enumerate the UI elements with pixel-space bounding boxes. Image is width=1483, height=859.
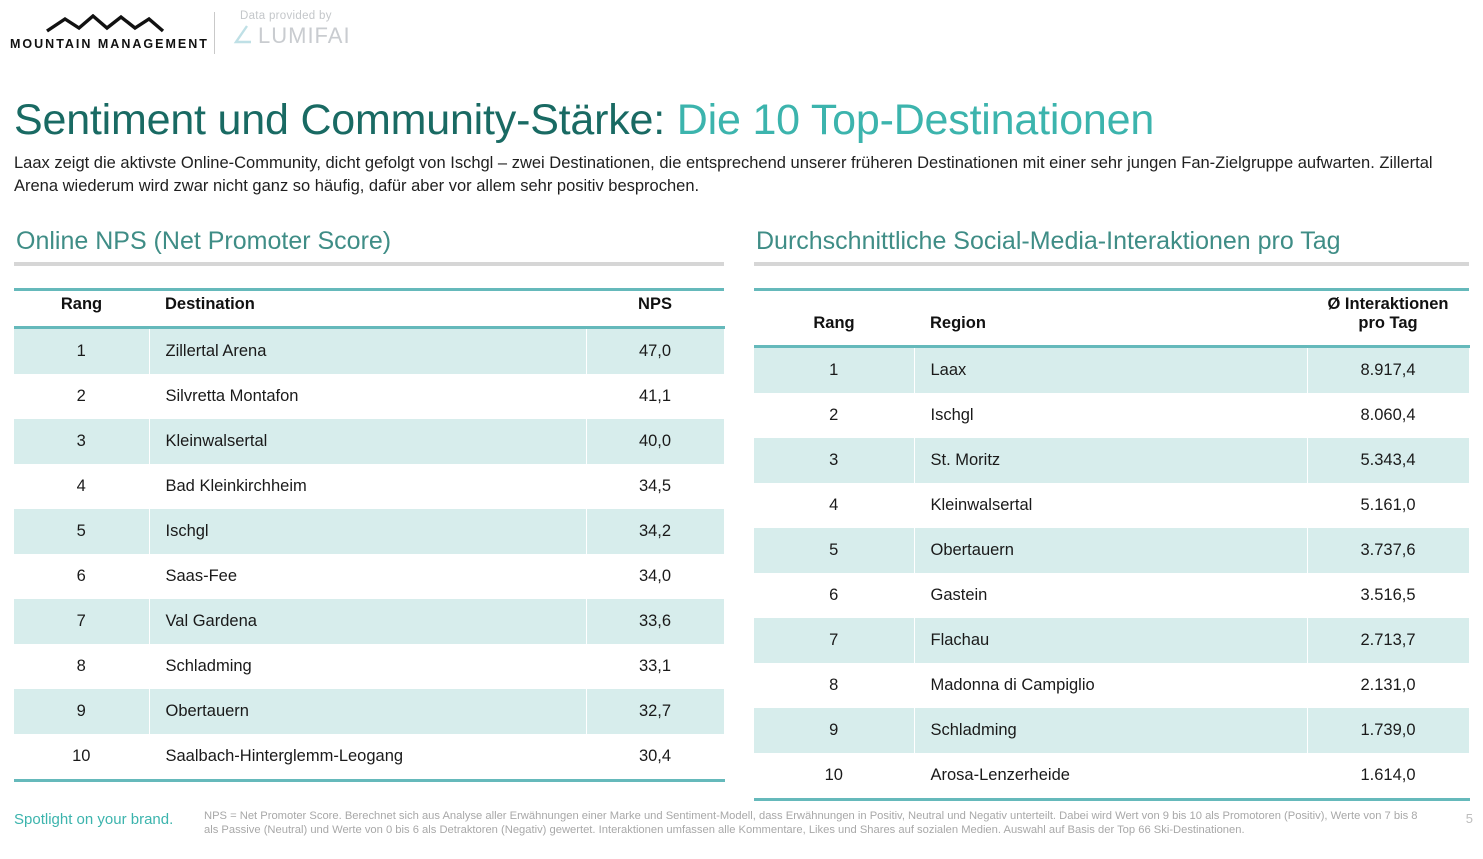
table-row: 1 Zillertal Arena 47,0 [14, 328, 724, 375]
cell-value: 5.343,4 [1307, 438, 1469, 483]
table-row: 7 Flachau 2.713,7 [754, 618, 1469, 663]
page-title-main: Sentiment und Community-Stärke: [14, 96, 665, 144]
cell-rank: 7 [754, 618, 914, 663]
table-row: 1 Laax 8.917,4 [754, 347, 1469, 394]
cell-rank: 2 [754, 393, 914, 438]
cell-value: 41,1 [586, 374, 724, 419]
cell-name: Obertauern [914, 528, 1307, 573]
table-header-row: Rang Destination NPS [14, 290, 724, 328]
table-row: 10 Saalbach-Hinterglemm-Leogang 30,4 [14, 734, 724, 781]
cell-rank: 6 [14, 554, 149, 599]
cell-rank: 10 [14, 734, 149, 781]
page-subtitle: Laax zeigt die aktivste Online-Community… [14, 152, 1469, 198]
cell-value: 2.131,0 [1307, 663, 1469, 708]
cell-name: Flachau [914, 618, 1307, 663]
footnote-text: NPS = Net Promoter Score. Berechnet sich… [204, 809, 1432, 837]
table-row: 2 Silvretta Montafon 41,1 [14, 374, 724, 419]
cell-name: Ischgl [149, 509, 586, 554]
cell-name: Saas-Fee [149, 554, 586, 599]
section-rule-left [14, 262, 724, 266]
lumifai-mark-icon [232, 23, 254, 49]
table-row: 8 Schladming 33,1 [14, 644, 724, 689]
cell-rank: 9 [14, 689, 149, 734]
cell-name: Obertauern [149, 689, 586, 734]
column-header-rank: Rang [14, 290, 149, 328]
cell-rank: 1 [754, 347, 914, 394]
table-row: 2 Ischgl 8.060,4 [754, 393, 1469, 438]
cell-value: 1.739,0 [1307, 708, 1469, 753]
cell-rank: 8 [754, 663, 914, 708]
cell-rank: 10 [754, 753, 914, 800]
mountain-management-logo: MOUNTAIN MANAGEMENT [10, 14, 200, 51]
cell-name: Schladming [149, 644, 586, 689]
table-row: 7 Val Gardena 33,6 [14, 599, 724, 644]
cell-rank: 7 [14, 599, 149, 644]
table-row: 5 Obertauern 3.737,6 [754, 528, 1469, 573]
column-header-interactions: Ø Interaktionen pro Tag [1307, 290, 1469, 347]
table-online-nps: Rang Destination NPS 1 Zillertal Arena 4… [14, 288, 725, 782]
cell-name: Saalbach-Hinterglemm-Leogang [149, 734, 586, 781]
cell-rank: 2 [14, 374, 149, 419]
table-row: 6 Saas-Fee 34,0 [14, 554, 724, 599]
table-row: 6 Gastein 3.516,5 [754, 573, 1469, 618]
cell-name: Madonna di Campiglio [914, 663, 1307, 708]
page-footer: Spotlight on your brand. NPS = Net Promo… [0, 797, 1483, 859]
page-title-accent: Die 10 Top-Destinationen [677, 96, 1154, 144]
cell-name: Zillertal Arena [149, 328, 586, 375]
cell-value: 2.713,7 [1307, 618, 1469, 663]
cell-value: 8.060,4 [1307, 393, 1469, 438]
cell-value: 3.737,6 [1307, 528, 1469, 573]
table-social-interactions: Rang Region Ø Interaktionen pro Tag 1 La… [754, 288, 1470, 801]
table-row: 3 St. Moritz 5.343,4 [754, 438, 1469, 483]
table-row: 5 Ischgl 34,2 [14, 509, 724, 554]
cell-rank: 5 [754, 528, 914, 573]
cell-value: 33,1 [586, 644, 724, 689]
cell-value: 34,5 [586, 464, 724, 509]
table-row: 10 Arosa-Lenzerheide 1.614,0 [754, 753, 1469, 800]
page-number: 5 [1466, 811, 1473, 826]
cell-value: 34,2 [586, 509, 724, 554]
cell-value: 30,4 [586, 734, 724, 781]
cell-name: Ischgl [914, 393, 1307, 438]
table-row: 9 Obertauern 32,7 [14, 689, 724, 734]
section-title-right: Durchschnittliche Social-Media-Interakti… [756, 226, 1469, 256]
column-header-nps: NPS [586, 290, 724, 328]
column-header-rank: Rang [754, 290, 914, 347]
cell-rank: 5 [14, 509, 149, 554]
cell-name: Bad Kleinkirchheim [149, 464, 586, 509]
cell-name: Schladming [914, 708, 1307, 753]
cell-rank: 1 [14, 328, 149, 375]
cell-value: 40,0 [586, 419, 724, 464]
cell-rank: 4 [754, 483, 914, 528]
cell-value: 33,6 [586, 599, 724, 644]
brand-divider [214, 12, 215, 54]
table-header-row: Rang Region Ø Interaktionen pro Tag [754, 290, 1469, 347]
cell-rank: 4 [14, 464, 149, 509]
cell-rank: 3 [14, 419, 149, 464]
cell-name: Kleinwalsertal [914, 483, 1307, 528]
cell-value: 47,0 [586, 328, 724, 375]
company-name: MOUNTAIN MANAGEMENT [10, 37, 200, 51]
cell-name: Arosa-Lenzerheide [914, 753, 1307, 800]
cell-rank: 6 [754, 573, 914, 618]
cell-value: 3.516,5 [1307, 573, 1469, 618]
column-header-destination: Destination [149, 290, 586, 328]
brand-header: MOUNTAIN MANAGEMENT Data provided by LUM… [0, 0, 1483, 68]
cell-name: Val Gardena [149, 599, 586, 644]
cell-name: Gastein [914, 573, 1307, 618]
column-header-interactions-line2: pro Tag [1358, 314, 1417, 332]
column-header-region: Region [914, 290, 1307, 347]
cell-value: 8.917,4 [1307, 347, 1469, 394]
data-provider-logo: Data provided by LUMIFAI [232, 10, 412, 49]
section-rule-right [754, 262, 1469, 266]
column-header-interactions-line1: Ø Interaktionen [1327, 295, 1448, 313]
cell-value: 5.161,0 [1307, 483, 1469, 528]
cell-name: Kleinwalsertal [149, 419, 586, 464]
cell-name: Silvretta Montafon [149, 374, 586, 419]
cell-name: Laax [914, 347, 1307, 394]
cell-name: St. Moritz [914, 438, 1307, 483]
cell-value: 34,0 [586, 554, 724, 599]
data-provider-name: LUMIFAI [258, 23, 351, 49]
mountain-peaks-icon [45, 14, 165, 34]
panel-online-nps: Online NPS (Net Promoter Score) Rang Des… [14, 226, 724, 782]
cell-rank: 3 [754, 438, 914, 483]
data-provider-label: Data provided by [240, 10, 412, 22]
cell-value: 1.614,0 [1307, 753, 1469, 800]
table-row: 9 Schladming 1.739,0 [754, 708, 1469, 753]
table-row: 4 Kleinwalsertal 5.161,0 [754, 483, 1469, 528]
panel-social-interactions: Durchschnittliche Social-Media-Interakti… [754, 226, 1469, 801]
cell-rank: 9 [754, 708, 914, 753]
cell-rank: 8 [14, 644, 149, 689]
table-row: 8 Madonna di Campiglio 2.131,0 [754, 663, 1469, 708]
page-title: Sentiment und Community-Stärke: Die 10 T… [14, 94, 1154, 146]
table-row: 4 Bad Kleinkirchheim 34,5 [14, 464, 724, 509]
section-title-left: Online NPS (Net Promoter Score) [16, 226, 724, 256]
table-row: 3 Kleinwalsertal 40,0 [14, 419, 724, 464]
cell-value: 32,7 [586, 689, 724, 734]
brand-tagline: Spotlight on your brand. [14, 811, 173, 828]
